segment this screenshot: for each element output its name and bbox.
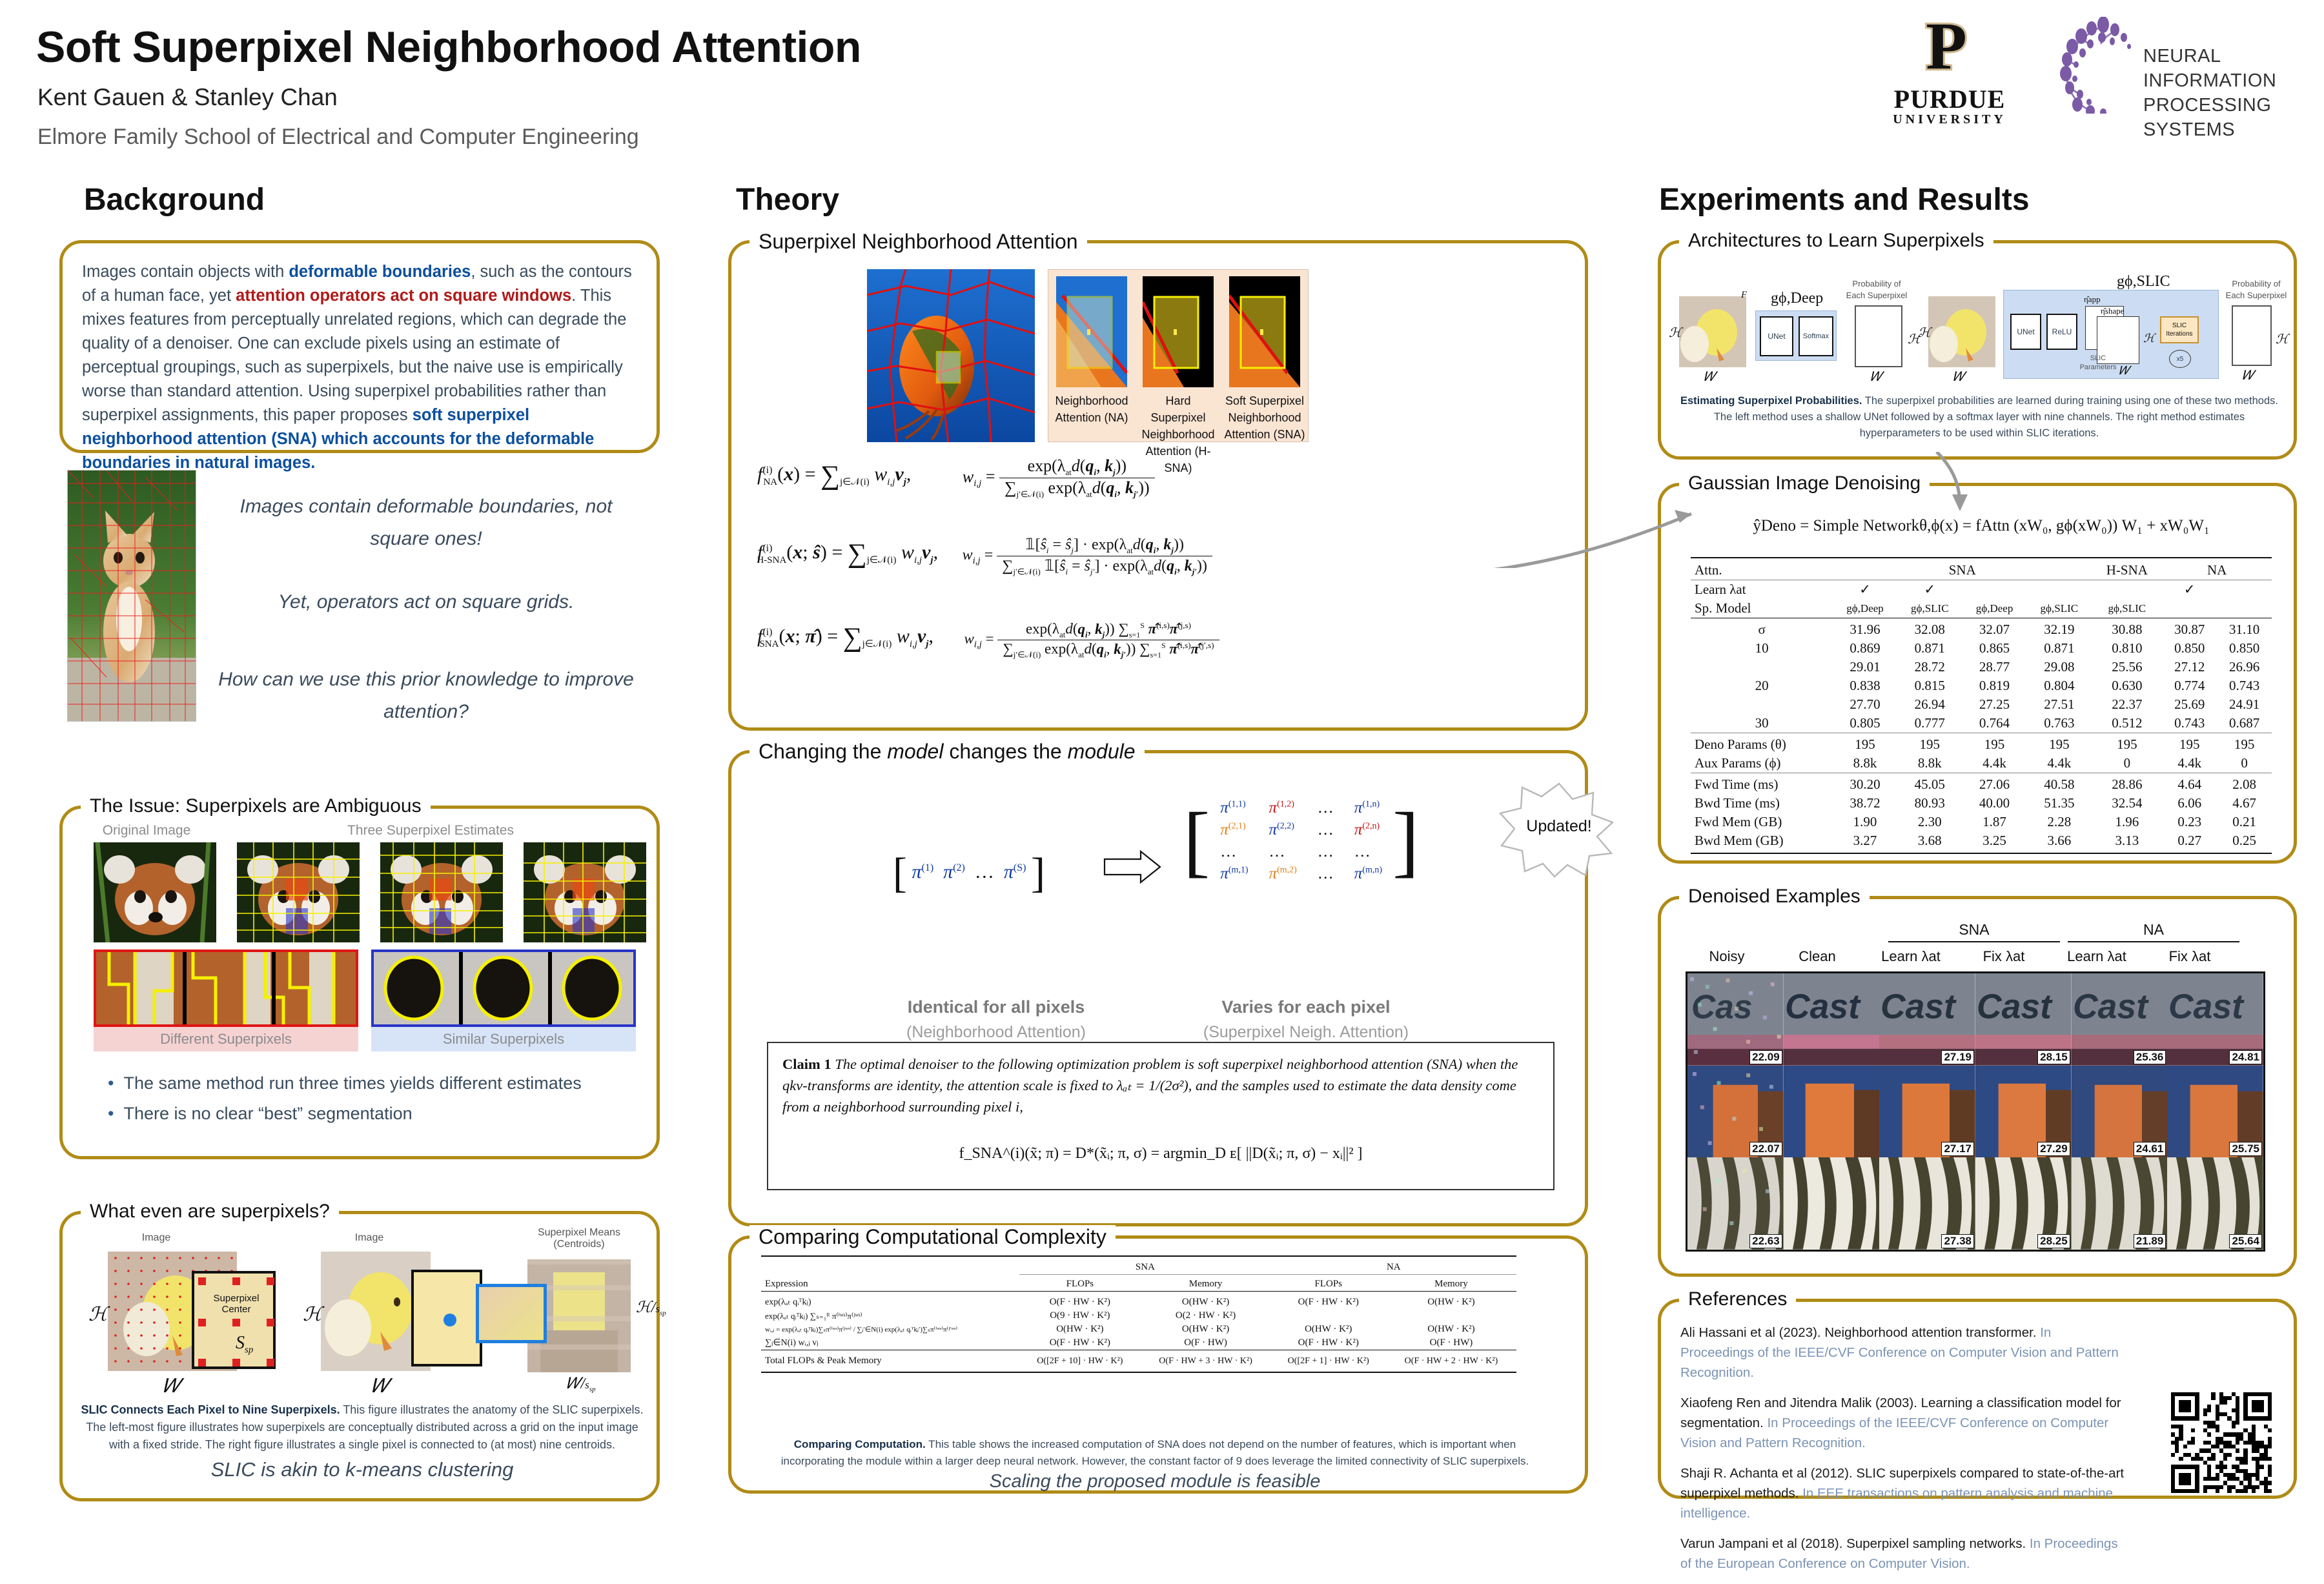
examples-group-sna: SNA xyxy=(1888,921,2060,942)
denoise-s30-ssim-6: 0.687 xyxy=(2217,714,2272,733)
denoised-examples-legend: Denoised Examples xyxy=(1679,886,1870,908)
abstract-bold-2: attention operators act on square window… xyxy=(236,287,571,305)
complexity-row-3-na-mem: O(F · HW) xyxy=(1386,1336,1516,1350)
table-row: exp(λₐₜ qᵢᵀkⱼ) O(F · HW · K²) O(HW · K²)… xyxy=(761,1292,1516,1310)
denoise-aux-params-2: 4.4k xyxy=(1962,754,2027,773)
psnr-r1c3: 27.19 xyxy=(1941,1050,1974,1064)
denoise-aux-params-3: 4.4k xyxy=(2026,754,2092,773)
module-legend-model: model xyxy=(887,740,943,763)
claim-text-block: Claim 1 The optimal denoiser to the foll… xyxy=(768,1043,1553,1128)
w-label-out-left: 𝑊 xyxy=(1870,370,1882,385)
neurips-wordmark: NEURAL INFORMATION PROCESSING SYSTEMS xyxy=(2143,44,2311,142)
equation-sna: f(i)SNA(x; π̂) = ∑j∈𝒩(i) wi,jvj, wi,j = … xyxy=(757,620,1558,660)
denoise-aux-params-label: Aux Params (ϕ) xyxy=(1691,754,1833,773)
table-row: 30 0.805 0.777 0.764 0.763 0.512 0.743 0… xyxy=(1691,714,2272,733)
complexity-row-2-na-flops: O(HW · K²) xyxy=(1271,1323,1386,1336)
den-cell-r2c5: 24.61 xyxy=(2072,1066,2168,1158)
denoise-deno-params-1: 195 xyxy=(1897,733,1962,755)
denoise-bwd-time-1: 80.93 xyxy=(1897,794,1962,813)
denoise-s10-psnr-0: 31.96 xyxy=(1833,618,1897,640)
denoise-s10-ssim-2: 0.865 xyxy=(1962,639,2027,658)
panda-estimate-3 xyxy=(524,842,646,942)
label-neighborhood-attention: (Neighborhood Attention) xyxy=(861,1023,1132,1042)
label-superpixel-neigh-attention: (Superpixel Neigh. Attention) xyxy=(1151,1023,1461,1042)
examples-group-na: NA xyxy=(2068,921,2239,942)
similar-superpixels-crops xyxy=(371,949,636,1027)
examples-col-sna-fix: Fix λat xyxy=(1959,948,2048,965)
psnr-r3c6: 25.64 xyxy=(2229,1234,2262,1248)
psnr-r1c4: 28.15 xyxy=(2037,1050,2070,1064)
centroid-cube xyxy=(476,1284,547,1343)
author-list: Kent Gauen & Stanley Chan xyxy=(37,84,338,111)
psnr-r3c1: 22.63 xyxy=(1749,1234,1782,1248)
h-label-out-right: ℋ xyxy=(2276,331,2288,347)
caption-sna: Soft Superpixel Neighborhood Attention (… xyxy=(1224,392,1305,443)
sna-crop-svg xyxy=(1229,276,1300,387)
w-over-ssp-symbol: 𝑊/ssp xyxy=(566,1376,596,1393)
table-row: Fwd Mem (GB) 1.90 2.30 1.87 2.28 1.96 0.… xyxy=(1691,813,2272,831)
panda-estimate-3-svg xyxy=(524,842,646,942)
table-row: Deno Params (θ) 195 195 195 195 195 195 … xyxy=(1691,733,2272,755)
denoise-model-2: gϕ,Deep xyxy=(1962,599,2027,618)
page-title: Soft Superpixel Neighborhood Attention xyxy=(36,22,861,72)
denoise-row-attn-label: Attn. xyxy=(1691,558,1833,580)
claim-equation: f_SNA^(i)(x̃; π) = D*(x̃ᵢ; π, σ) = argmi… xyxy=(768,1145,1553,1163)
issue-panel-legend: The Issue: Superpixels are Ambiguous xyxy=(81,795,431,817)
svg-text:Cast: Cast xyxy=(2168,988,2245,1026)
complexity-row-1-expr: exp(λₐₜ qᵢᵀkⱼ) ∑ₛ₌₁ᴿ π⁽ⁱʷˢ⁾π⁽ʲʷˢ⁾ xyxy=(761,1309,1019,1323)
denoise-s20-ssim-0: 0.838 xyxy=(1833,676,1897,695)
denoise-group-na: NA xyxy=(2162,558,2272,580)
jellyfish-svg xyxy=(867,269,1035,442)
abstract-part-1: Images contain objects with xyxy=(82,263,289,281)
denoise-s10-psnr-3: 32.19 xyxy=(2026,618,2092,640)
arch-prob-label-right-1: Probability of xyxy=(2217,278,2295,290)
denoise-bwd-mem-3: 3.66 xyxy=(2026,831,2092,853)
denoise-fwd-mem-3: 2.28 xyxy=(2026,813,2092,831)
denoise-fwd-time-label: Fwd Time (ms) xyxy=(1691,773,1833,795)
abstract-panel: Images contain objects with deformable b… xyxy=(59,240,660,453)
different-crops-svg xyxy=(96,952,356,1024)
denoise-bwd-mem-0: 3.27 xyxy=(1833,831,1897,853)
label-image-mid: Image xyxy=(301,1232,437,1244)
psnr-r1c6: 24.81 xyxy=(2229,1050,2262,1064)
affiliation: Elmore Family School of Electrical and C… xyxy=(37,125,639,150)
complexity-total-sna-flops: O([2F + 10] · HW · K²) xyxy=(1019,1350,1140,1373)
claim-title: Claim 1 xyxy=(782,1056,831,1072)
attention-comparison-group: Neighborhood Attention (NA) Hard Superpi… xyxy=(1048,269,1309,442)
denoise-sigma-10: 10 xyxy=(1691,639,1833,658)
denoise-aux-params-1: 8.8k xyxy=(1897,754,1962,773)
arch-input-image-right xyxy=(1928,296,1995,367)
denoise-s20-ssim-4: 0.630 xyxy=(2092,676,2162,695)
denoise-bwd-time-0: 38.72 xyxy=(1833,794,1897,813)
w-label-out-right: 𝑊 xyxy=(2242,369,2254,383)
denoise-model-3: gϕ,SLIC xyxy=(2026,599,2092,618)
orange-clean-svg xyxy=(1784,1066,1880,1158)
arch-input-right-svg xyxy=(1928,296,1995,367)
psnr-r2c4: 27.29 xyxy=(2037,1142,2070,1156)
den-cell-r2c4: 27.29 xyxy=(1975,1066,2072,1158)
denoise-s20-ssim-1: 0.815 xyxy=(1897,676,1962,695)
h-label-arch-right: ℋ xyxy=(1918,325,1931,341)
label-image-left: Image xyxy=(88,1232,224,1244)
column-heading-theory: Theory xyxy=(736,182,839,218)
svg-text:Cast: Cast xyxy=(1881,988,1957,1026)
issue-bullet-1-text: The same method run three times yields d… xyxy=(123,1073,581,1093)
arch-slic-params-1: SLIC xyxy=(2066,354,2130,363)
denoise-fwd-mem-1: 2.30 xyxy=(1897,813,1962,831)
table-row: σ 31.96 32.08 32.07 32.19 30.88 30.87 31… xyxy=(1691,618,2272,640)
denoise-s10-ssim-1: 0.871 xyxy=(1897,639,1962,658)
denoise-deno-params-label: Deno Params (θ) xyxy=(1691,733,1833,755)
superpixels-panel-legend: What even are superpixels? xyxy=(81,1201,339,1223)
complexity-row-3-expr: ∑ⱼ∈N(i) wᵢ,ⱼ vⱼ xyxy=(761,1336,1019,1350)
denoising-panel-legend: Gaussian Image Denoising xyxy=(1679,472,1930,494)
psnr-r3c3: 27.38 xyxy=(1941,1234,1974,1248)
note-square-grids: Yet, operators act on square grids. xyxy=(213,586,639,618)
denoise-s30-psnr-1: 26.94 xyxy=(1897,695,1962,714)
den-cell-r3c4: 28.25 xyxy=(1975,1157,2072,1250)
complexity-col-na-flops: FLOPs xyxy=(1271,1277,1386,1292)
denoise-s30-ssim-3: 0.763 xyxy=(2026,714,2092,733)
updated-badge-label: Updated! xyxy=(1498,817,1620,836)
abstract-text: Images contain objects with deformable b… xyxy=(63,243,657,475)
w-label-arch-left: 𝑊 xyxy=(1704,370,1716,385)
denoising-equation: ŷDeno = Simple Networkθ,ϕ(x) = fAttn (xW… xyxy=(1684,517,2278,535)
complexity-col-sna-mem: Memory xyxy=(1141,1277,1271,1292)
denoise-s30-psnr-4: 22.37 xyxy=(2092,695,2162,714)
panda-estimate-2-svg xyxy=(380,842,503,942)
panda-original-svg xyxy=(94,842,216,942)
denoise-s30-psnr-2: 27.25 xyxy=(1962,695,2027,714)
claim-box: Claim 1 The optimal denoiser to the foll… xyxy=(767,1042,1554,1190)
similar-crops-svg xyxy=(374,952,633,1024)
purdue-wordmark: PURDUE xyxy=(1872,84,2027,114)
module-legend-pre: Changing the xyxy=(759,740,887,763)
complexity-total-na-flops: O([2F + 1] · HW · K²) xyxy=(1271,1350,1386,1373)
h-symbol-left: ℋ xyxy=(88,1303,108,1326)
denoise-bwd-time-3: 51.35 xyxy=(2026,794,2092,813)
denoise-s20-psnr-6: 26.96 xyxy=(2217,658,2272,676)
denoise-s30-psnr-5: 25.69 xyxy=(2162,695,2217,714)
denoise-bwd-mem-1: 3.68 xyxy=(1897,831,1962,853)
denoise-deno-params-5: 195 xyxy=(2162,733,2217,755)
denoise-s20-psnr-4: 25.56 xyxy=(2092,658,2162,676)
examples-col-na-fix: Fix λat xyxy=(2145,948,2234,965)
denoise-model-6 xyxy=(2217,599,2272,618)
den-cell-r1c5: Cast 25.36 xyxy=(2072,973,2168,1066)
label-three-estimates: Three Superpixel Estimates xyxy=(224,823,637,838)
issue-bullet-1: • The same method run three times yields… xyxy=(108,1073,582,1093)
arch-prob-label-right-2: Each Superpixel xyxy=(2217,290,2295,301)
arch-input-left-svg xyxy=(1679,296,1746,367)
label-superpixel-means-2: (Centroids) xyxy=(518,1239,640,1250)
denoise-bwd-time-6: 4.67 xyxy=(2217,794,2272,813)
denoise-deno-params-6: 195 xyxy=(2217,733,2272,755)
arch-left-model-name: gϕ,Deep xyxy=(1771,290,1823,307)
complexity-total-sna-mem: O(F · HW + 3 · HW · K²) xyxy=(1141,1350,1271,1373)
different-superpixels-crops xyxy=(94,949,358,1027)
denoise-fwd-time-0: 30.20 xyxy=(1833,773,1897,795)
table-row: Sp. Model gϕ,Deep gϕ,SLIC gϕ,Deep gϕ,SLI… xyxy=(1691,599,2272,618)
jellyfish-superpixel-image xyxy=(867,269,1035,442)
arch-unet-block-left: UNet xyxy=(1760,316,1793,356)
den-cell-r3c6: 25.64 xyxy=(2167,1157,2263,1250)
label-superpixel-means-1: Superpixel Means xyxy=(518,1227,640,1239)
denoise-s10-ssim-0: 0.869 xyxy=(1833,639,1897,658)
denoise-s20-psnr-0: 29.01 xyxy=(1833,658,1897,676)
architectures-panel: Architectures to Learn Superpixels ℋ 𝑊 F… xyxy=(1658,240,2297,460)
denoise-s30-ssim-2: 0.764 xyxy=(1962,714,2027,733)
denoise-s20-ssim-3: 0.804 xyxy=(2026,676,2092,695)
complexity-col-na-mem: Memory xyxy=(1386,1277,1516,1292)
label-similar-superpixels: Similar Superpixels xyxy=(443,1031,564,1048)
label-identical-all-pixels: Identical for all pixels xyxy=(861,997,1132,1017)
denoise-learn-6 xyxy=(2217,580,2272,600)
table-row: wᵢ,ⱼ = exp(λₐₜ qᵢᵀkⱼ)∑ₛπ⁽ⁱʷˢ⁾π⁽ʲʷˢ⁾ / ∑ⱼ… xyxy=(761,1323,1516,1336)
table-row: 10 0.869 0.871 0.865 0.871 0.810 0.850 0… xyxy=(1691,639,2272,658)
column-heading-background: Background xyxy=(84,182,265,218)
h-label-arch-inner: ℋ xyxy=(2143,332,2155,345)
table-row: Total FLOPs & Peak Memory O([2F + 10] · … xyxy=(761,1350,1516,1373)
architectures-caption-bold: Estimating Superpixel Probabilities. xyxy=(1680,395,1862,407)
complexity-tagline: Scaling the proposed module is feasible xyxy=(768,1471,1542,1492)
denoise-s10-psnr-4: 30.88 xyxy=(2092,618,2162,640)
pi-row-vector: [ π(1) π(2) … π(S) ] xyxy=(893,849,1045,898)
issue-bullets: • The same method run three times yields… xyxy=(108,1073,582,1124)
f-label-arch-left: F xyxy=(1741,290,1747,301)
denoise-s20-psnr-1: 28.72 xyxy=(1897,658,1962,676)
svg-text:Cast: Cast xyxy=(2073,988,2149,1026)
psnr-r1c5: 25.36 xyxy=(2134,1050,2166,1064)
denoise-s30-psnr-0: 27.70 xyxy=(1833,695,1897,714)
complexity-row-1-sna-mem: O(2 · HW · K²) xyxy=(1141,1309,1271,1323)
h-over-ssp-symbol: ℋ/ssp xyxy=(636,1298,666,1317)
denoise-s30-ssim-0: 0.805 xyxy=(1833,714,1897,733)
denoise-learn-2 xyxy=(1962,580,2027,600)
arch-slic-iterations-block: SLIC Iterations xyxy=(2160,316,2199,343)
denoise-fwd-mem-5: 0.23 xyxy=(2162,813,2217,831)
arch-right-model-name: gϕ,SLIC xyxy=(2117,273,2170,290)
complexity-panel-legend: Comparing Computational Complexity xyxy=(749,1225,1116,1249)
table-row: Fwd Time (ms) 30.20 45.05 27.06 40.58 28… xyxy=(1691,773,2272,795)
denoised-examples-panel: Denoised Examples SNA NA Noisy Clean Lea… xyxy=(1658,896,2297,1277)
complexity-caption-bold: Comparing Computation. xyxy=(794,1438,926,1450)
complexity-row-3-na-flops: O(F · HW · K²) xyxy=(1271,1336,1386,1350)
poster-header: Soft Superpixel Neighborhood Attention K… xyxy=(0,0,2324,168)
pi-matrix: [ π(1,1) π(1,2) … π(1,n) ] π(2,1) π(2,2)… xyxy=(1183,797,1419,885)
denoise-s20-psnr-3: 29.08 xyxy=(2026,658,2092,676)
reference-item-2: Xiaofeng Ren and Jitendra Malik (2003). … xyxy=(1680,1393,2126,1453)
denoise-s30-ssim-4: 0.512 xyxy=(2092,714,2162,733)
psnr-r1c1: 22.09 xyxy=(1749,1050,1782,1064)
slic-caption: SLIC Connects Each Pixel to Nine Superpi… xyxy=(79,1401,645,1454)
denoise-deno-params-3: 195 xyxy=(2026,733,2092,755)
neurips-line2: PROCESSING SYSTEMS xyxy=(2143,93,2311,142)
denoise-model-1: gϕ,SLIC xyxy=(1897,599,1962,618)
abstract-bold-1: deformable boundaries xyxy=(289,263,471,281)
slic-tagline: SLIC is akin to k-means clustering xyxy=(79,1458,645,1481)
arch-right-block-group: UNet ReLU η̂app η̂shape SLIC Parameters … xyxy=(2003,290,2219,379)
hsna-crop-svg xyxy=(1143,276,1214,387)
arch-relu-block: ReLU xyxy=(2046,314,2077,350)
equation-na: f(i)NA(x) = ∑j∈𝒩(i) wi,jvj, wi,j = exp(λ… xyxy=(757,456,1558,500)
examples-col-sna-learn: Learn λat xyxy=(1866,948,1955,965)
denoise-fwd-mem-6: 0.21 xyxy=(2217,813,2272,831)
denoise-learn-3 xyxy=(2026,580,2092,600)
w-label-arch-right: 𝑊 xyxy=(1953,370,1965,385)
denoise-learn-5: ✓ xyxy=(2162,580,2217,600)
table-row: Aux Params (ϕ) 8.8k 8.8k 4.4k 4.4k 0 4.4… xyxy=(1691,754,2272,773)
arch-output-volume-left xyxy=(1855,305,1902,367)
references-panel-legend: References xyxy=(1679,1288,1796,1310)
module-legend-mid: changes the xyxy=(943,740,1067,763)
table-row: 29.01 28.72 28.77 29.08 25.56 27.12 26.9… xyxy=(1691,658,2272,676)
caption-na: Neighborhood Attention (NA) xyxy=(1051,392,1132,426)
denoise-fwd-time-4: 28.86 xyxy=(2092,773,2162,795)
examples-col-na-learn: Learn λat xyxy=(2052,948,2141,965)
column-heading-experiments: Experiments and Results xyxy=(1659,182,2030,218)
denoise-bwd-mem-label: Bwd Mem (GB) xyxy=(1691,831,1833,853)
den-cell-r3c3: 27.38 xyxy=(1879,1157,1975,1250)
complexity-col-sna-flops: FLOPs xyxy=(1019,1277,1140,1292)
den-cell-r3c2 xyxy=(1784,1157,1880,1250)
h-label-arch-left: ℋ xyxy=(1669,325,1682,341)
den-cell-r3c1: 22.63 xyxy=(1687,1157,1784,1250)
denoise-s10-psnr-2: 32.07 xyxy=(1962,618,2027,640)
complexity-row-0-expr: exp(λₐₜ qᵢᵀkⱼ) xyxy=(761,1292,1019,1310)
references-panel: References Ali Hassani et al (2023). Nei… xyxy=(1658,1299,2297,1499)
denoise-sigma-symbol: σ xyxy=(1691,618,1833,640)
arch-prob-label-left: Probability of Each Superpixel xyxy=(1838,278,1915,301)
table-row: Bwd Mem (GB) 3.27 3.68 3.25 3.66 3.13 0.… xyxy=(1691,831,2272,853)
complexity-total-na-mem: O(F · HW + 2 · HW · K²) xyxy=(1386,1350,1516,1373)
table-row: Learn λat ✓ ✓ ✓ xyxy=(1691,580,2272,600)
complexity-row-2-sna-flops: O(HW · K²) xyxy=(1019,1323,1140,1336)
issue-bullet-2-text: There is no clear “best” segmentation xyxy=(123,1104,412,1123)
sna-panel: Superpixel Neighborhood Attention xyxy=(728,240,1588,731)
centroid-dot xyxy=(443,1314,456,1326)
purdue-p-mark: P xyxy=(1901,14,1992,84)
examples-col-clean: Clean xyxy=(1776,948,1859,965)
denoise-fwd-time-6: 2.08 xyxy=(2217,773,2272,795)
panda-original xyxy=(94,842,216,942)
complexity-row-0-na-flops: O(F · HW · K²) xyxy=(1271,1292,1386,1310)
architectures-caption: Estimating Superpixel Probabilities. The… xyxy=(1679,393,2279,442)
denoise-sigma-30: 30 xyxy=(1691,714,1833,733)
table-row: ∑ⱼ∈N(i) wᵢ,ⱼ vⱼ O(F · HW · K²) O(F · HW)… xyxy=(761,1336,1516,1350)
complexity-row-2-na-mem: O(HW · K²) xyxy=(1386,1323,1516,1336)
psnr-r2c1: 22.07 xyxy=(1749,1142,1782,1156)
denoise-bwd-time-5: 6.06 xyxy=(2162,794,2217,813)
table-row: 27.70 26.94 27.25 27.51 22.37 25.69 24.9… xyxy=(1691,695,2272,714)
neurips-swirl-icon xyxy=(2053,17,2143,114)
denoise-deno-params-2: 195 xyxy=(1962,733,2027,755)
qr-code[interactable] xyxy=(2171,1392,2272,1493)
denoising-table: Attn. SNA H-SNA NA Learn λat ✓ ✓ ✓ Sp. M… xyxy=(1691,557,2272,854)
complexity-table: SNA NA Expression FLOPs Memory FLOPs Mem… xyxy=(761,1255,1516,1373)
arch-eta-app-label: η̂app xyxy=(2084,294,2101,305)
label-different-superpixels: Different Superpixels xyxy=(160,1031,292,1048)
denoise-s10-psnr-5: 30.87 xyxy=(2162,618,2217,640)
denoise-s20-psnr-5: 27.12 xyxy=(2162,658,2217,676)
issue-panel: The Issue: Superpixels are Ambiguous Ori… xyxy=(59,806,660,1159)
denoise-row-learn-label: Learn λat xyxy=(1691,580,1833,600)
implies-arrow-icon xyxy=(1103,850,1161,884)
denoise-fwd-time-2: 27.06 xyxy=(1962,773,2027,795)
complexity-row-1-na-mem xyxy=(1386,1309,1516,1323)
arch-prob-label-right: Probability of Each Superpixel xyxy=(2217,278,2295,301)
psnr-r2c3: 27.17 xyxy=(1941,1142,1974,1156)
denoise-s20-ssim-2: 0.819 xyxy=(1962,676,2027,695)
module-panel-legend: Changing the model changes the module xyxy=(749,740,1145,764)
sna-panel-legend: Superpixel Neighborhood Attention xyxy=(749,230,1087,254)
denoise-s10-ssim-4: 0.810 xyxy=(2092,639,2162,658)
den-cell-r1c3: Cast 27.19 xyxy=(1879,973,1975,1066)
den-cell-r2c1: 22.07 xyxy=(1687,1066,1784,1158)
stripes-clean-svg xyxy=(1784,1157,1880,1250)
purdue-logo: P PURDUE UNIVERSITY xyxy=(1872,14,2027,124)
complexity-total-expr: Total FLOPs & Peak Memory xyxy=(761,1350,1019,1373)
complexity-row-1-na-flops xyxy=(1271,1309,1386,1323)
complexity-group-sna: SNA xyxy=(1019,1256,1270,1275)
denoising-panel: Gaussian Image Denoising ŷDeno = Simple … xyxy=(1658,483,2297,864)
denoise-bwd-mem-4: 3.13 xyxy=(2092,831,2162,853)
denoise-bwd-time-label: Bwd Time (ms) xyxy=(1691,794,1833,813)
den-cell-r2c2 xyxy=(1784,1066,1880,1158)
panda-estimate-1-svg xyxy=(237,842,360,942)
arch-left-block-group: UNet Softmax xyxy=(1755,310,1837,361)
complexity-group-na: NA xyxy=(1271,1256,1516,1275)
denoise-s10-psnr-1: 32.08 xyxy=(1897,618,1962,640)
s-sp-symbol: Ssp xyxy=(236,1333,253,1356)
denoise-sigma-20: 20 xyxy=(1691,676,1833,695)
architectures-panel-legend: Architectures to Learn Superpixels xyxy=(1679,230,1993,252)
svg-text:Cast: Cast xyxy=(1977,988,2053,1026)
complexity-row-0-na-mem: O(HW · K²) xyxy=(1386,1292,1516,1310)
issue-bullet-2: • There is no clear “best” segmentation xyxy=(108,1104,582,1124)
den-cell-r1c1: Cas 22.09 xyxy=(1687,973,1784,1066)
den-cell-r1c6: Cast 24.81 xyxy=(2167,973,2263,1066)
denoise-fwd-mem-2: 1.87 xyxy=(1962,813,2027,831)
complexity-row-1-sna-flops: O(9 · HW · K²) xyxy=(1019,1309,1140,1323)
w-symbol-mid: 𝑊 xyxy=(371,1376,389,1397)
denoise-fwd-mem-label: Fwd Mem (GB) xyxy=(1691,813,1833,831)
complexity-row-3-sna-mem: O(F · HW) xyxy=(1141,1336,1271,1350)
panda-estimate-1 xyxy=(237,842,360,942)
reference-item-3: Shaji R. Achanta et al (2012). SLIC supe… xyxy=(1680,1463,2126,1523)
denoise-s20-ssim-5: 0.774 xyxy=(2162,676,2217,695)
psnr-r3c5: 21.89 xyxy=(2134,1234,2166,1248)
psnr-r2c5: 24.61 xyxy=(2134,1142,2166,1156)
superpixels-panel: What even are superpixels? Image Image S… xyxy=(59,1211,660,1501)
denoise-s20-psnr-2: 28.77 xyxy=(1962,658,2027,676)
den-cell-r2c3: 27.17 xyxy=(1879,1066,1975,1158)
hsna-crop xyxy=(1143,276,1214,387)
arch-input-image-left xyxy=(1679,296,1746,367)
cat-photo-svg xyxy=(68,471,196,722)
complexity-row-3-sna-flops: O(F · HW · K²) xyxy=(1019,1336,1140,1350)
arch-prob-label-left-2: Each Superpixel xyxy=(1838,290,1915,301)
psnr-r3c4: 28.25 xyxy=(2037,1234,2070,1248)
arch-softmax-block: Softmax xyxy=(1799,316,1833,356)
denoise-bwd-time-2: 40.00 xyxy=(1962,794,2027,813)
cast-clean-svg: Cast xyxy=(1784,973,1880,1066)
denoise-fwd-time-1: 45.05 xyxy=(1897,773,1962,795)
denoise-deno-params-0: 195 xyxy=(1833,733,1897,755)
denoise-bwd-time-4: 32.54 xyxy=(2092,794,2162,813)
